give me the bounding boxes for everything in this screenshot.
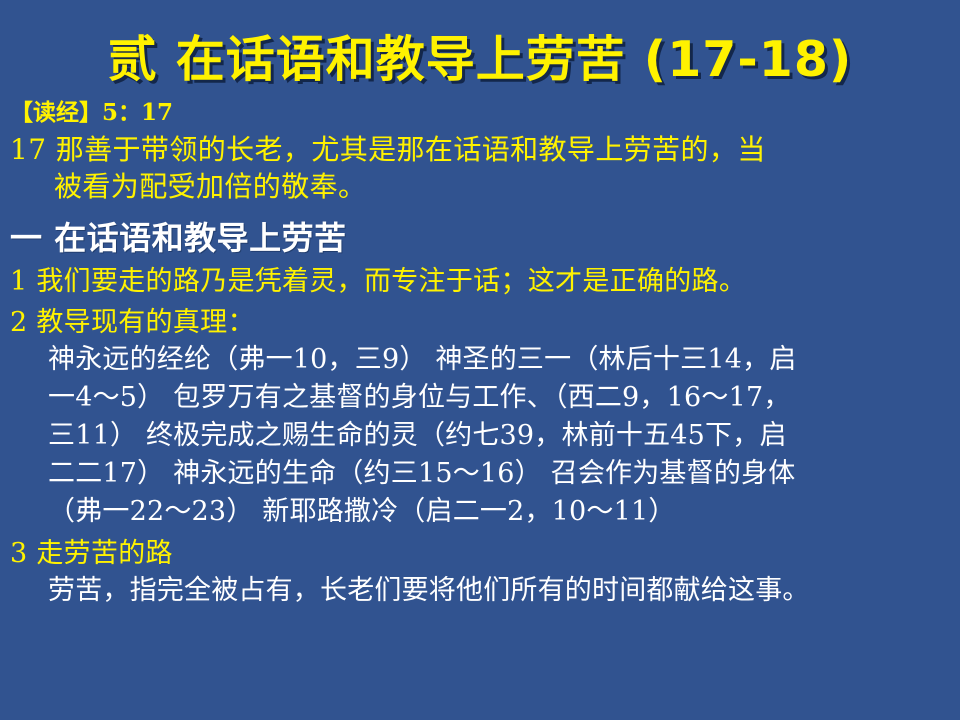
point-3-sub-line-1: 劳苦，指完全被占有，长老们要将他们所有的时间都献给这事。: [48, 572, 954, 610]
point-2: 2 教导现有的真理： 神永远的经纶（弗一10，三9） 神圣的三一（林后十三14，…: [10, 304, 954, 531]
point-3: 3 走劳苦的路 劳苦，指完全被占有，长老们要将他们所有的时间都献给这事。: [10, 535, 954, 610]
point-2-sub-line-5: （弗一22～23） 新耶路撒冷（启二一2，10～11）: [48, 493, 954, 531]
scripture-verse-block: 17 那善于带领的长老，尤其是那在话语和教导上劳苦的，当 被看为配受加倍的敬奉。: [10, 131, 954, 205]
slide-canvas: 贰 在话语和教导上劳苦 (17-18) 【读经】5：17 17 那善于带领的长老…: [0, 0, 960, 720]
point-3-heading: 3 走劳苦的路: [10, 535, 954, 572]
point-2-sub-line-4: 二二17） 神永远的生命（约三15～16） 召会作为基督的身体: [48, 455, 954, 493]
verse-line-2: 被看为配受加倍的敬奉。: [10, 168, 954, 205]
verse-line-1: 17 那善于带领的长老，尤其是那在话语和教导上劳苦的，当: [10, 131, 954, 168]
point-1-heading: 1 我们要走的路乃是凭着灵，而专注于话；这才是正确的路。: [10, 263, 954, 300]
section-heading: 一 在话语和教导上劳苦: [10, 217, 954, 259]
point-2-sub-line-2: 一4～5） 包罗万有之基督的身位与工作、（西二9，16～17，: [48, 379, 954, 417]
point-2-sub-line-1: 神永远的经纶（弗一10，三9） 神圣的三一（林后十三14，启: [48, 341, 954, 379]
scripture-reading-reference: 【读经】5：17: [10, 98, 954, 128]
point-3-subtext: 劳苦，指完全被占有，长老们要将他们所有的时间都献给这事。: [10, 572, 954, 610]
point-2-subtext: 神永远的经纶（弗一10，三9） 神圣的三一（林后十三14，启 一4～5） 包罗万…: [10, 341, 954, 531]
point-2-sub-line-3: 三11） 终极完成之赐生命的灵（约七39，林前十五45下，启: [48, 417, 954, 455]
point-2-heading: 2 教导现有的真理：: [10, 304, 954, 341]
slide-body: 【读经】5：17 17 那善于带领的长老，尤其是那在话语和教导上劳苦的，当 被看…: [10, 98, 954, 610]
point-1: 1 我们要走的路乃是凭着灵，而专注于话；这才是正确的路。: [10, 263, 954, 300]
page-title: 贰 在话语和教导上劳苦 (17-18): [0, 31, 960, 89]
